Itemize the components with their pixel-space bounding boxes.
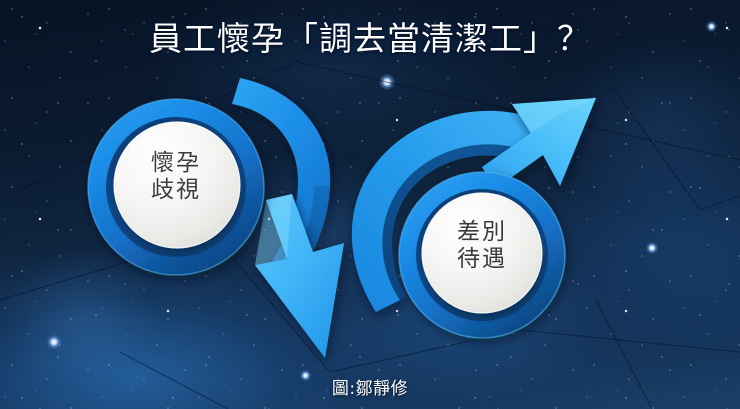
arrow-diagram xyxy=(0,0,740,409)
badge-right-disc xyxy=(422,193,542,313)
badge-left[interactable] xyxy=(88,99,264,275)
badge-left-disc xyxy=(114,122,240,248)
image-credit: 圖:鄒靜修 xyxy=(0,374,740,399)
news-graphic-canvas: 員工懷孕「調去當清潔工」？ 懷孕 歧視 差別 待遇 圖:鄒靜修 xyxy=(0,0,740,409)
badge-right[interactable] xyxy=(399,172,565,338)
page-title: 員工懷孕「調去當清潔工」？ xyxy=(0,12,740,60)
